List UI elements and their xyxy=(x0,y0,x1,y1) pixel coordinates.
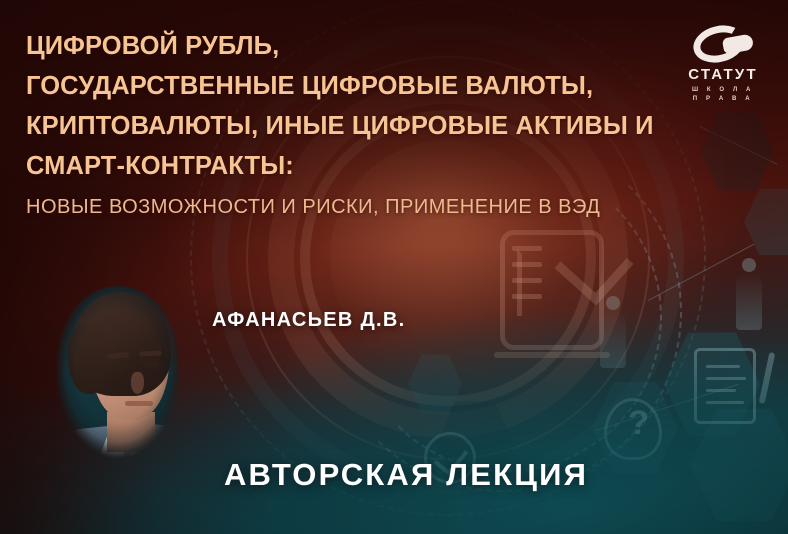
lecture-type-label: АВТОРСКАЯ ЛЕКЦИЯ xyxy=(0,457,788,493)
lecture-type-label-text: АВТОРСКАЯ ЛЕКЦИЯ xyxy=(200,457,588,492)
page-title: ЦИФРОВОЙ РУБЛЬ, ГОСУДАРСТВЕННЫЕ ЦИФРОВЫЕ… xyxy=(26,26,726,226)
title-line-4: СМАРТ-КОНТРАКТЫ: xyxy=(26,146,726,186)
speaker-portrait xyxy=(57,286,179,462)
title-line-3: КРИПТОВАЛЮТЫ, ИНЫЕ ЦИФРОВЫЕ АКТИВЫ И xyxy=(26,106,726,146)
title-line-2: ГОСУДАРСТВЕННЫЕ ЦИФРОВЫЕ ВАЛЮТЫ, xyxy=(26,66,726,106)
speaker-name: АФАНАСЬЕВ Д.В. xyxy=(212,309,406,332)
title-line-1: ЦИФРОВОЙ РУБЛЬ, xyxy=(26,26,726,66)
portrait-vignette xyxy=(57,286,179,462)
page-subtitle: НОВЫЕ ВОЗМОЖНОСТИ И РИСКИ, ПРИМЕНЕНИЕ В … xyxy=(26,188,726,226)
lecture-promo-slide: ? СТАТУТ Ш К О Л А П Р А В А ЦИФРОВОЙ РУ… xyxy=(0,0,788,534)
